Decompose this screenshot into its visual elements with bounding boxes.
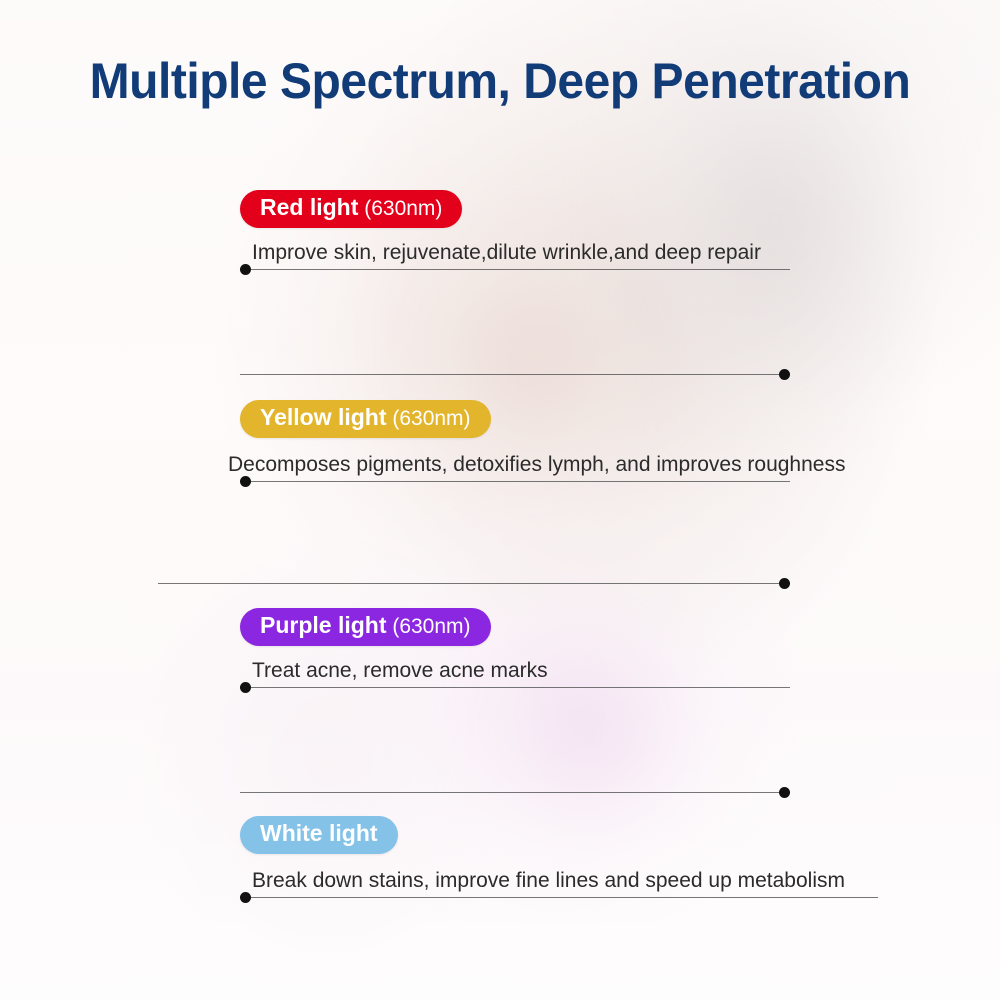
- divider-line: [240, 792, 790, 793]
- light-mode-name-purple: Purple light: [260, 612, 387, 638]
- light-mode-divider-purple: [240, 680, 790, 694]
- light-mode-pill-purple[interactable]: Purple light (630nm): [240, 608, 491, 646]
- infographic-poster: Multiple Spectrum, Deep Penetration Red …: [0, 0, 1000, 1000]
- light-mode-divider-red: [240, 262, 790, 276]
- light-mode-divider-blue: [240, 367, 790, 381]
- light-mode-divider-white: [240, 890, 878, 904]
- divider-line: [240, 897, 878, 898]
- divider-line: [158, 583, 790, 584]
- light-mode-pill-red[interactable]: Red light (630nm): [240, 190, 462, 228]
- light-mode-name-yellow: Yellow light: [260, 404, 387, 430]
- light-mode-divider-green: [158, 576, 790, 590]
- divider-dot: [240, 264, 251, 275]
- divider-line: [240, 269, 790, 270]
- light-mode-pill-yellow[interactable]: Yellow light (630nm): [240, 400, 491, 438]
- background-photo: [0, 0, 1000, 1000]
- divider-line: [240, 374, 790, 375]
- light-mode-divider-yellow: [240, 474, 790, 488]
- divider-dot: [240, 892, 251, 903]
- divider-dot: [779, 787, 790, 798]
- divider-dot: [779, 578, 790, 589]
- light-mode-wavelength-purple: (630nm): [387, 615, 471, 638]
- light-mode-name-white: White light: [260, 820, 378, 846]
- divider-line: [240, 687, 790, 688]
- light-mode-name-red: Red light: [260, 194, 358, 220]
- divider-dot: [779, 369, 790, 380]
- divider-dot: [240, 682, 251, 693]
- light-mode-pill-white[interactable]: White light: [240, 816, 398, 854]
- page-title: Multiple Spectrum, Deep Penetration: [20, 52, 980, 110]
- light-mode-wavelength-red: (630nm): [358, 197, 442, 220]
- divider-line: [240, 481, 790, 482]
- light-mode-wavelength-yellow: (630nm): [387, 407, 471, 430]
- light-mode-divider-cyan: [240, 785, 790, 799]
- divider-dot: [240, 476, 251, 487]
